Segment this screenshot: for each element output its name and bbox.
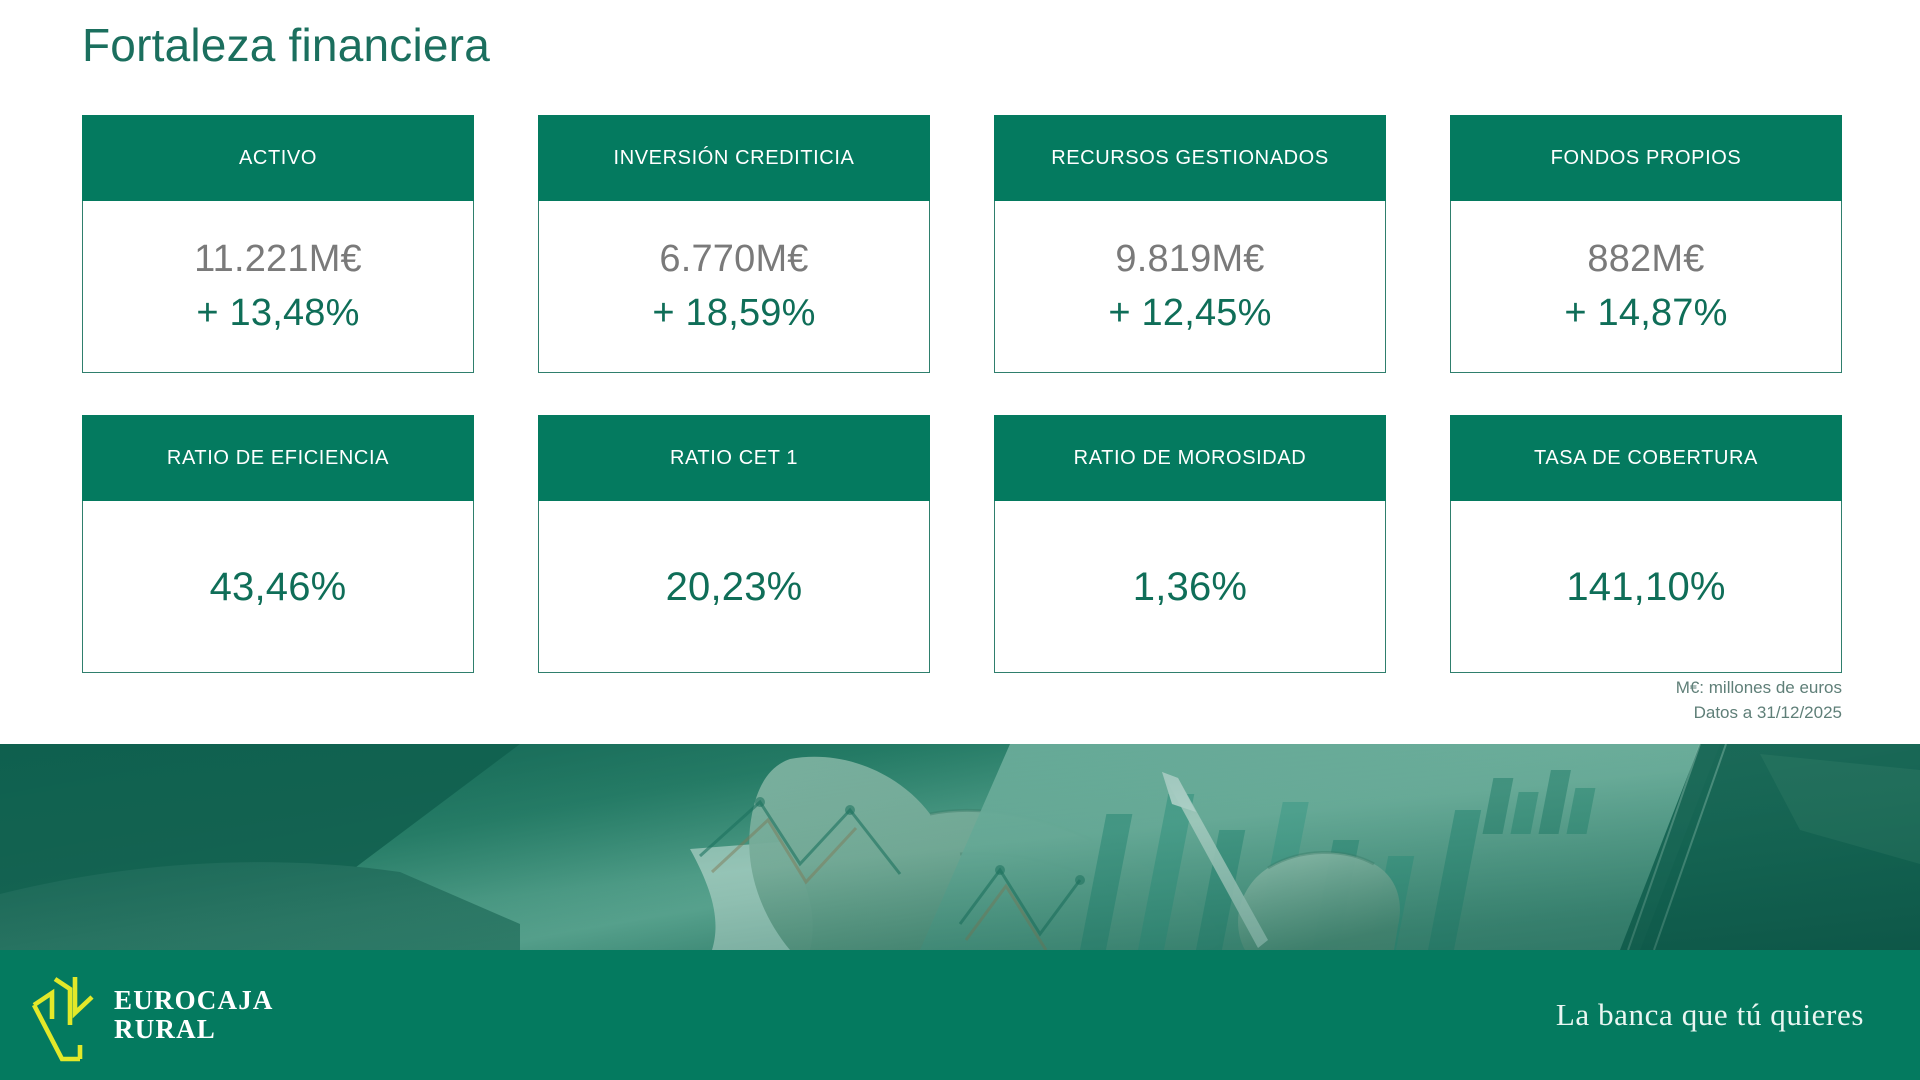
metric-card-grid: ACTIVO 11.221M€ + 13,48% INVERSIÓN CREDI… <box>82 115 1842 673</box>
metric-card-body: 6.770M€ + 18,59% <box>538 201 930 373</box>
metric-value: 9.819M€ <box>1115 236 1264 284</box>
metric-value: 43,46% <box>210 562 347 612</box>
footer-bar: EUROCAJA RURAL La banca que tú quieres <box>0 950 1920 1080</box>
metric-card-body: 882M€ + 14,87% <box>1450 201 1842 373</box>
brand-line-2: RURAL <box>114 1015 274 1044</box>
metric-card-header: ACTIVO <box>82 115 474 201</box>
metric-card-header: INVERSIÓN CREDITICIA <box>538 115 930 201</box>
metric-card-header: TASA DE COBERTURA <box>1450 415 1842 501</box>
hero-photo-illustration <box>0 744 1920 950</box>
metric-card-header: RATIO CET 1 <box>538 415 930 501</box>
metric-card-header: RATIO DE MOROSIDAD <box>994 415 1386 501</box>
metric-value: 882M€ <box>1587 236 1704 284</box>
metric-value: 141,10% <box>1566 562 1725 612</box>
brand-wordmark: EUROCAJA RURAL <box>114 986 274 1044</box>
metric-delta: + 12,45% <box>1108 290 1271 338</box>
metric-card-header: RECURSOS GESTIONADOS <box>994 115 1386 201</box>
metric-card-body: 1,36% <box>994 501 1386 673</box>
page-title: Fortaleza financiera <box>82 18 490 73</box>
metric-card-body: 141,10% <box>1450 501 1842 673</box>
metric-card-tasa-cobertura: TASA DE COBERTURA 141,10% <box>1450 415 1842 673</box>
slide-content: Fortaleza financiera ACTIVO 11.221M€ + 1… <box>0 0 1920 740</box>
metric-delta: + 14,87% <box>1564 290 1727 338</box>
eurocaja-rural-tree-logo-icon <box>28 967 102 1063</box>
metric-card-fondos-propios: FONDOS PROPIOS 882M€ + 14,87% <box>1450 115 1842 373</box>
metric-value: 6.770M€ <box>659 236 808 284</box>
hero-photo-band <box>0 744 1920 950</box>
metric-card-body: 20,23% <box>538 501 930 673</box>
metric-delta: + 18,59% <box>652 290 815 338</box>
brand-tagline: La banca que tú quieres <box>1556 997 1864 1033</box>
metric-card-ratio-cet1: RATIO CET 1 20,23% <box>538 415 930 673</box>
metric-card-body: 11.221M€ + 13,48% <box>82 201 474 373</box>
metric-delta: + 13,48% <box>196 290 359 338</box>
metric-card-body: 9.819M€ + 12,45% <box>994 201 1386 373</box>
footnote-data-date: Datos a 31/12/2025 <box>1676 701 1842 726</box>
brand-lockup: EUROCAJA RURAL <box>28 967 274 1063</box>
metric-value: 11.221M€ <box>194 236 362 284</box>
metric-card-ratio-morosidad: RATIO DE MOROSIDAD 1,36% <box>994 415 1386 673</box>
metric-value: 20,23% <box>666 562 803 612</box>
metric-card-body: 43,46% <box>82 501 474 673</box>
metric-card-activo: ACTIVO 11.221M€ + 13,48% <box>82 115 474 373</box>
footnotes: M€: millones de euros Datos a 31/12/2025 <box>1676 676 1842 725</box>
metric-card-recursos-gestionados: RECURSOS GESTIONADOS 9.819M€ + 12,45% <box>994 115 1386 373</box>
metric-card-header: FONDOS PROPIOS <box>1450 115 1842 201</box>
metric-card-header: RATIO DE EFICIENCIA <box>82 415 474 501</box>
metric-value: 1,36% <box>1133 562 1247 612</box>
metric-card-ratio-eficiencia: RATIO DE EFICIENCIA 43,46% <box>82 415 474 673</box>
brand-line-1: EUROCAJA <box>114 986 274 1015</box>
metric-row-primary: ACTIVO 11.221M€ + 13,48% INVERSIÓN CREDI… <box>82 115 1842 373</box>
metric-row-ratios: RATIO DE EFICIENCIA 43,46% RATIO CET 1 2… <box>82 415 1842 673</box>
metric-card-inversion-crediticia: INVERSIÓN CREDITICIA 6.770M€ + 18,59% <box>538 115 930 373</box>
footnote-currency-legend: M€: millones de euros <box>1676 676 1842 701</box>
